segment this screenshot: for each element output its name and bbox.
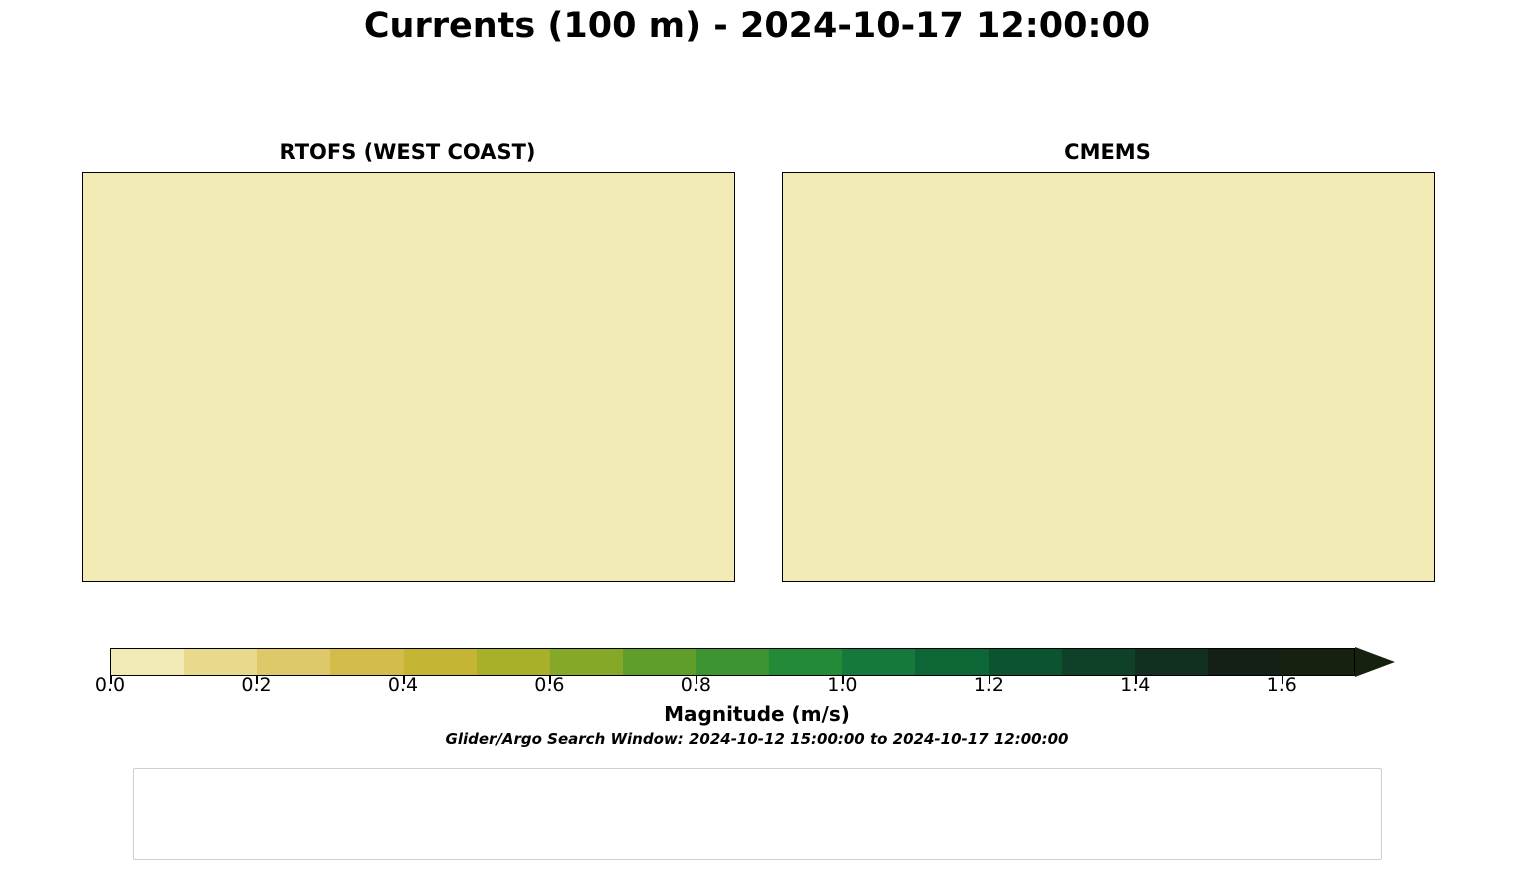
map-panel-cmems[interactable] bbox=[782, 172, 1435, 582]
colorbar-tick-label: 0.8 bbox=[656, 674, 736, 696]
map-panel-rtofs[interactable] bbox=[82, 172, 735, 582]
colorbar-tick-label: 1.6 bbox=[1242, 674, 1322, 696]
colorbar-band bbox=[769, 649, 842, 675]
colorbar-band bbox=[550, 649, 623, 675]
colorbar-tick-label: 0.4 bbox=[363, 674, 443, 696]
page-title: Currents (100 m) - 2024-10-17 12:00:00 bbox=[0, 6, 1514, 46]
colorbar-band bbox=[1135, 649, 1208, 675]
colorbar-tick-label: 0.2 bbox=[216, 674, 296, 696]
colorbar-band bbox=[257, 649, 330, 675]
colorbar bbox=[110, 648, 1390, 676]
colorbar-tick-label: 0.0 bbox=[70, 674, 150, 696]
colorbar-band bbox=[477, 649, 550, 675]
colorbar-band bbox=[842, 649, 915, 675]
colorbar-tick-label: 1.2 bbox=[949, 674, 1029, 696]
colorbar-band bbox=[111, 649, 184, 675]
colorbar-band bbox=[915, 649, 988, 675]
panel-title-cmems: CMEMS bbox=[782, 140, 1433, 164]
colorbar-band bbox=[330, 649, 403, 675]
colorbar-tick-label: 1.0 bbox=[802, 674, 882, 696]
colorbar-band bbox=[184, 649, 257, 675]
colorbar-band bbox=[1281, 649, 1354, 675]
colorbar-band bbox=[404, 649, 477, 675]
colorbar-band bbox=[989, 649, 1062, 675]
colorbar-title: Magnitude (m/s) bbox=[0, 702, 1514, 726]
colorbar-band bbox=[1208, 649, 1281, 675]
colorbar-band bbox=[1062, 649, 1135, 675]
colorbar-extend-arrow bbox=[1355, 647, 1395, 677]
panel-title-rtofs: RTOFS (WEST COAST) bbox=[82, 140, 733, 164]
colorbar-band bbox=[696, 649, 769, 675]
search-window-caption: Glider/Argo Search Window: 2024-10-12 15… bbox=[0, 730, 1514, 748]
colorbar-band bbox=[623, 649, 696, 675]
colorbar-tick-label: 1.4 bbox=[1095, 674, 1175, 696]
legend bbox=[133, 768, 1382, 860]
colorbar-tick-label: 0.6 bbox=[509, 674, 589, 696]
